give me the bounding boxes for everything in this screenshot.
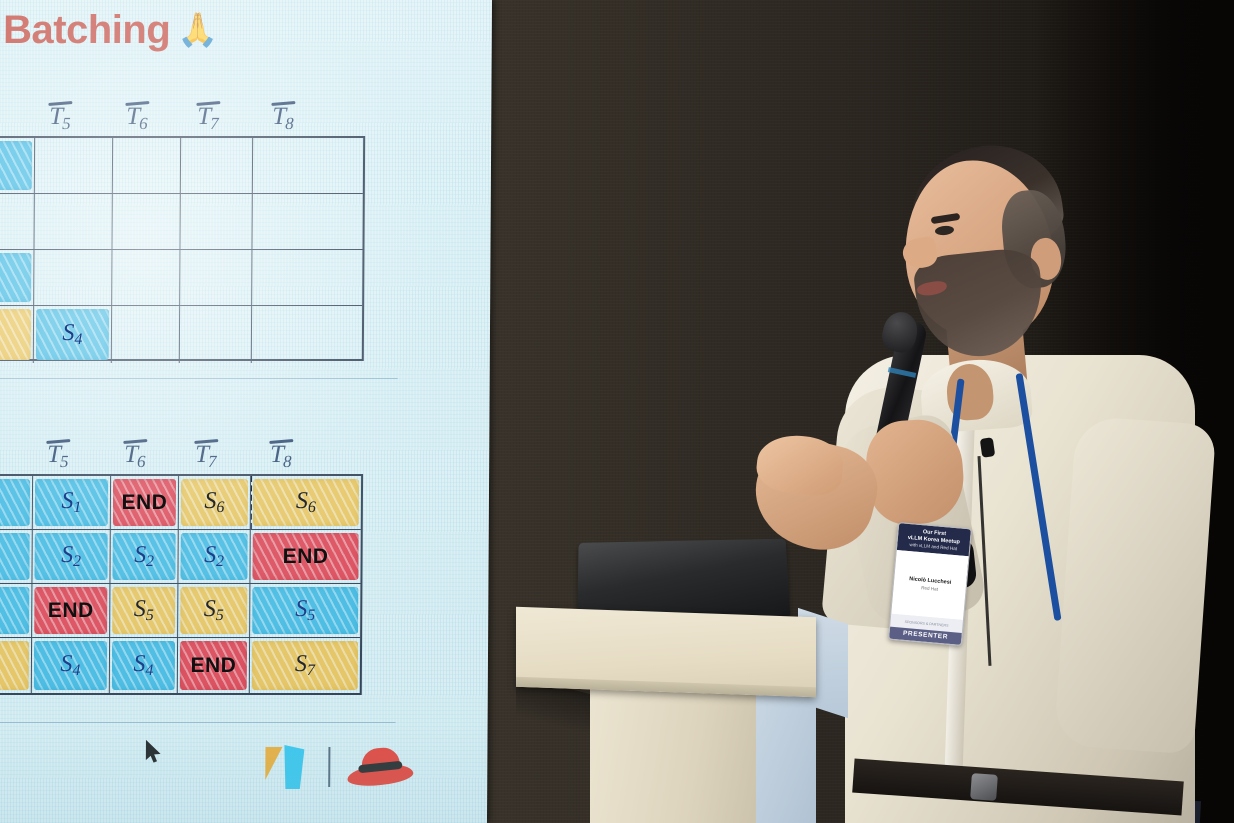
presentation-photo-scene: ative Batching🙏 T4 T5 T6 T7 T8 — [0, 0, 1234, 823]
cell-label: S7 — [295, 651, 315, 680]
cell-label: S5 — [295, 596, 315, 625]
projection-screen: ative Batching🙏 T4 T5 T6 T7 T8 — [0, 0, 492, 823]
badge-identity: Nicolò Lucchesi Red Hat — [891, 550, 968, 620]
podium — [516, 530, 848, 823]
laptop-screen-rear — [577, 539, 790, 621]
cell-label: S5 — [134, 596, 154, 625]
cell-label: S4 — [62, 320, 82, 349]
screen-vignette — [0, 0, 492, 823]
presenter-right-arm — [1054, 416, 1217, 755]
podium-column — [590, 688, 756, 823]
cell-label: END — [121, 491, 167, 515]
belt-buckle — [970, 773, 998, 801]
badge-attendee-org: Red Hat — [921, 586, 938, 592]
presenter-badge: Our First vLLM Korea Meetup with vLLM an… — [888, 522, 972, 646]
cell-label: S5 — [204, 596, 224, 625]
lavalier-mic-icon — [980, 437, 996, 458]
cell-label: END — [283, 545, 329, 569]
cell-label: S1 — [61, 488, 81, 517]
cell-label: S6 — [204, 488, 224, 517]
cell-label: S4 — [60, 651, 80, 680]
podium-column-right-panel — [754, 692, 816, 823]
cell-label: S2 — [61, 542, 81, 571]
cell-label: S6 — [296, 488, 316, 517]
cell-label: END — [48, 599, 94, 623]
cell-label: S2 — [204, 542, 224, 571]
badge-attendee-name: Nicolò Lucchesi — [909, 577, 952, 587]
cell-label: S2 — [134, 542, 154, 571]
cell-label: S4 — [133, 651, 153, 680]
cell-label: END — [190, 654, 236, 678]
